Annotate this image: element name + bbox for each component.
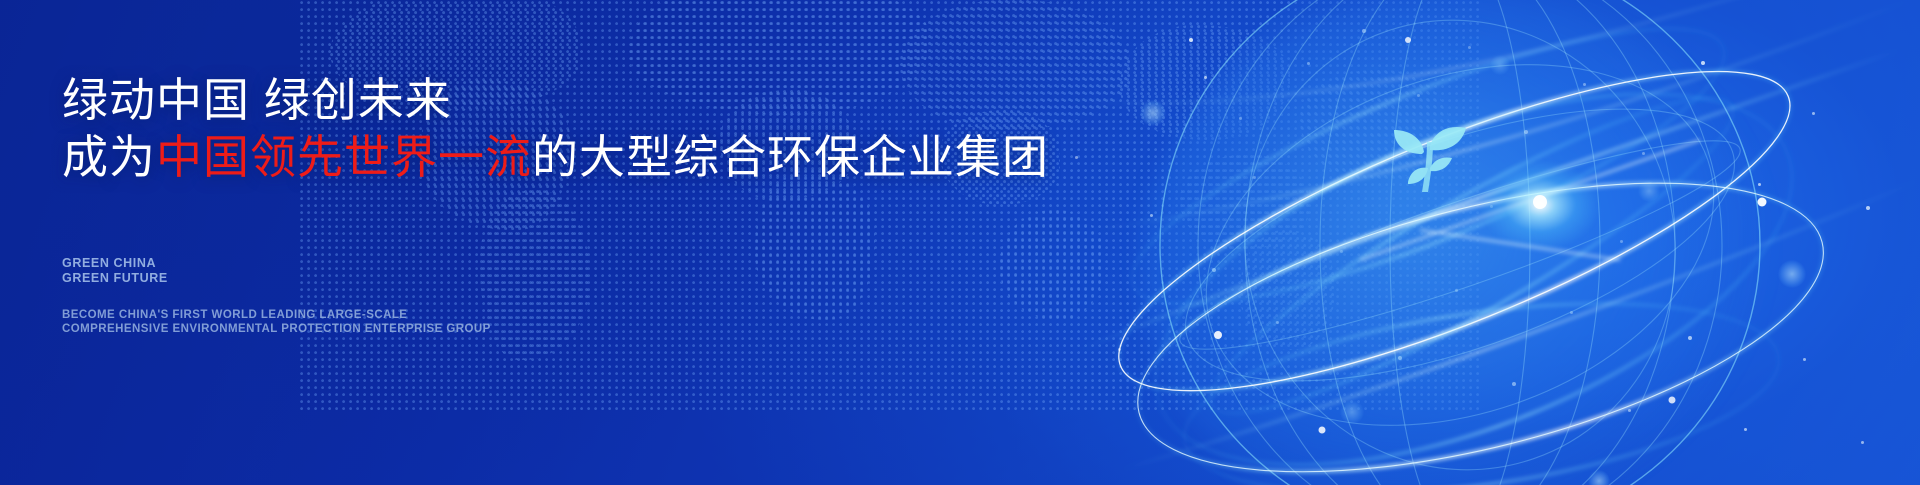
sprout-icon [1378, 102, 1474, 194]
headline-block: 绿动中国 绿创未来 成为中国领先世界一流的大型综合环保企业集团 [62, 72, 1062, 186]
subcopy-line-1: BECOME CHINA'S FIRST WORLD LEADING LARGE… [62, 309, 491, 323]
headline-suffix: 的大型综合环保企业集团 [532, 131, 1049, 183]
tagline-block: GREEN CHINA GREEN FUTURE [62, 256, 168, 285]
starburst-icon [1480, 160, 1600, 250]
tagline-line-1: GREEN CHINA [62, 256, 168, 271]
headline-line-2: 成为中国领先世界一流的大型综合环保企业集团 [62, 129, 1062, 186]
hero-banner: 绿动中国 绿创未来 成为中国领先世界一流的大型综合环保企业集团 GREEN CH… [0, 0, 1920, 485]
headline-line-1: 绿动中国 绿创未来 [62, 72, 1062, 129]
subcopy-block: BECOME CHINA'S FIRST WORLD LEADING LARGE… [62, 309, 491, 336]
headline-prefix: 成为 [62, 131, 156, 183]
tagline-line-2: GREEN FUTURE [62, 271, 168, 286]
globe-icon [1060, 0, 1920, 485]
subcopy-line-2: COMPREHENSIVE ENVIRONMENTAL PROTECTION E… [62, 323, 491, 337]
headline-highlight: 中国领先世界一流 [156, 131, 532, 183]
